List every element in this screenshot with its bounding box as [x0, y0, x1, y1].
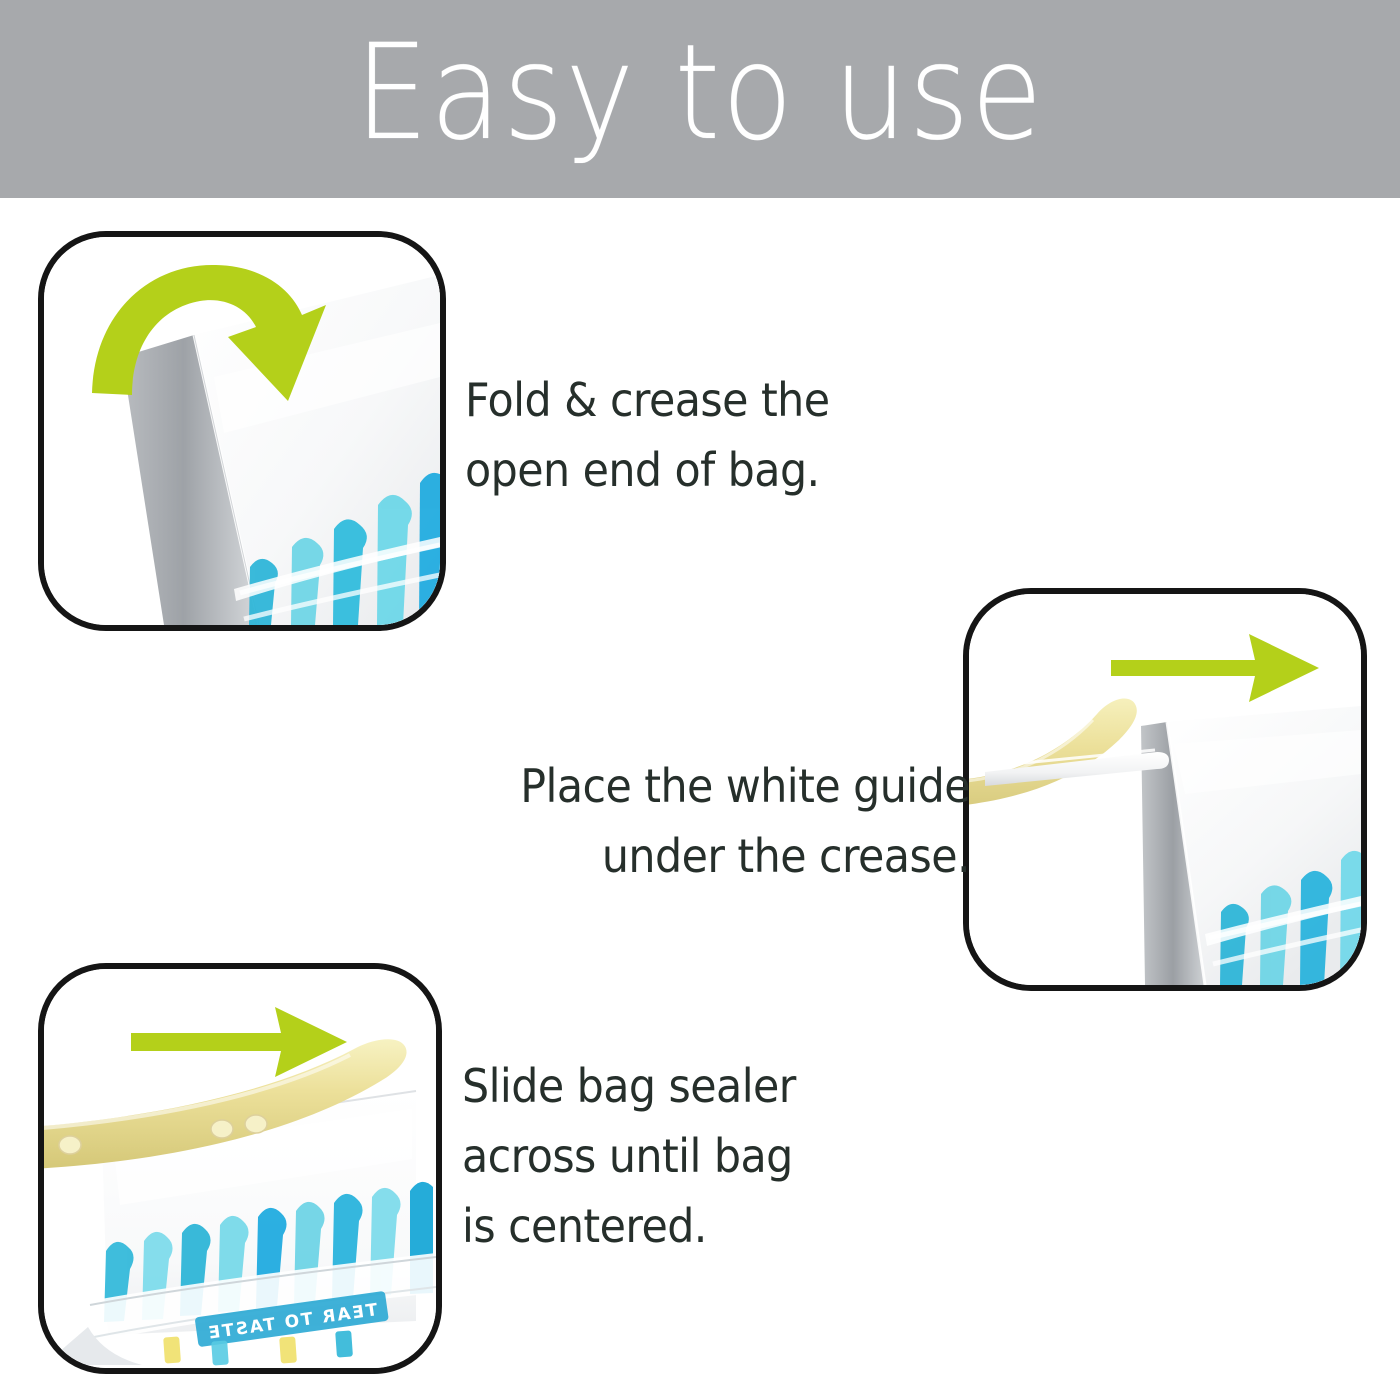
step-2-photo [969, 594, 1361, 985]
step-3-caption-line-1: Slide bag sealer [462, 1052, 871, 1122]
step-2-caption-line-2: under the crease. [505, 822, 970, 892]
step-3-caption-line-3: is centered. [462, 1192, 871, 1262]
page-title: Easy to use [355, 27, 1044, 171]
step-2-caption: Place the white guide under the crease. [505, 752, 970, 892]
step-3-caption-line-2: across until bag [462, 1122, 871, 1192]
step-1-photo [44, 237, 440, 625]
step-1-caption: Fold & crease the open end of bag. [465, 366, 865, 506]
step-3-caption: Slide bag sealer across until bag is cen… [462, 1052, 871, 1262]
header-band: Easy to use [0, 0, 1400, 198]
step-3-image-panel: TEAR TO TASTE [38, 963, 442, 1374]
step-1-image-panel [38, 231, 446, 631]
step-2-caption-line-1: Place the white guide [505, 752, 970, 822]
step-3-photo: TEAR TO TASTE [44, 969, 436, 1368]
straight-right-arrow-icon [129, 1005, 349, 1079]
straight-right-arrow-icon [1109, 632, 1321, 704]
step-1-caption-line-2: open end of bag. [465, 436, 865, 506]
step-1-caption-line-1: Fold & crease the [465, 366, 865, 436]
step-2-image-panel [963, 588, 1367, 991]
curved-down-right-arrow-icon [88, 253, 328, 433]
